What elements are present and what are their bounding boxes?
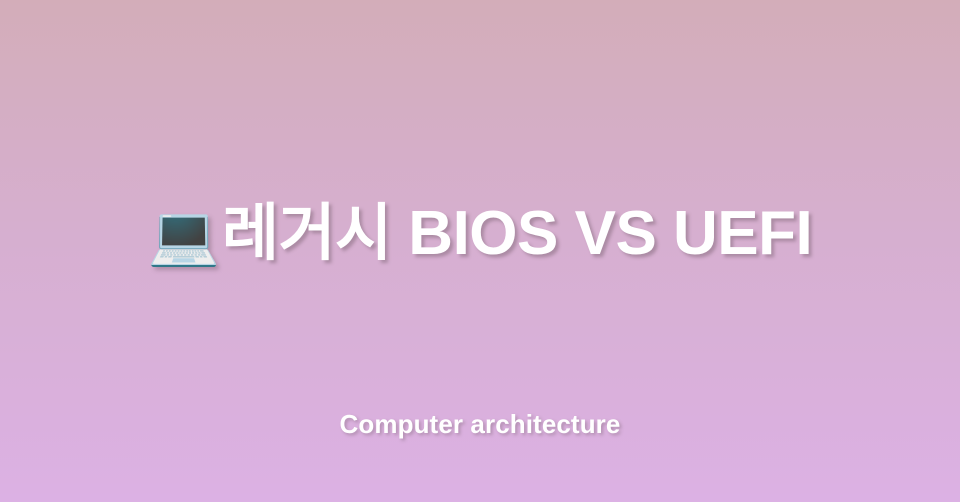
laptop-icon: 💻 [148, 206, 220, 264]
title-line: 💻 레거시 BIOS VS UEFI [148, 201, 813, 266]
title-text: 레거시 BIOS VS UEFI [222, 201, 812, 266]
slide-title: 💻 레거시 BIOS VS UEFI [0, 186, 960, 282]
subtitle-text: Computer architecture [340, 409, 621, 439]
slide-subtitle: Computer architecture [0, 409, 960, 440]
title-slide: 💻 레거시 BIOS VS UEFI Computer architecture [0, 0, 960, 502]
